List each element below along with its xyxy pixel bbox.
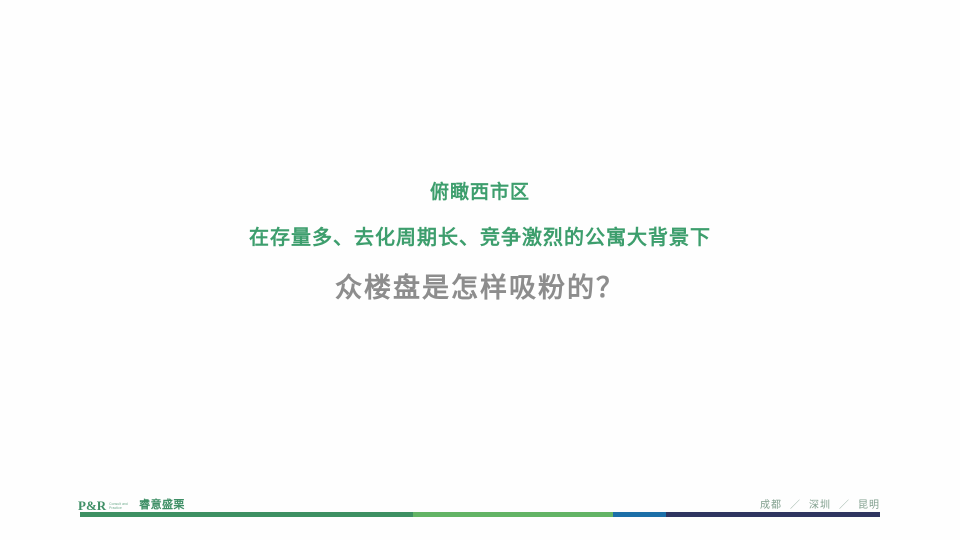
logo-mark-text: P&R [78, 499, 106, 512]
brand-logo: P&R Consult and Practice 睿意盛栗 [78, 497, 185, 513]
footer-city-shenzhen: 深圳 [809, 496, 831, 511]
headline-line-1: 俯瞰西市区 [0, 178, 960, 208]
rule-segment-navy [666, 512, 880, 517]
rule-segment-dark-green [80, 512, 413, 517]
footer-city-chengdu: 成都 [760, 496, 782, 511]
logo-chinese-name: 睿意盛栗 [139, 499, 185, 511]
footer-city-kunming: 昆明 [858, 496, 880, 511]
slide-canvas: 俯瞰西市区 在存量多、去化周期长、竞争激烈的公寓大背景下 众楼盘是怎样吸粉的？ … [0, 0, 960, 540]
headline-question: 众楼盘是怎样吸粉的？ [0, 268, 960, 308]
headline-block: 俯瞰西市区 在存量多、去化周期长、竞争激烈的公寓大背景下 众楼盘是怎样吸粉的？ [0, 178, 960, 308]
rule-segment-blue [613, 512, 666, 517]
headline-line-2: 在存量多、去化周期长、竞争激烈的公寓大背景下 [0, 222, 960, 254]
slide-footer: P&R Consult and Practice 睿意盛栗 成都 ／ 深圳 ／ … [0, 490, 960, 540]
logo-subtitle-text: Consult and Practice [109, 502, 135, 510]
footer-city-separator-1: ／ [790, 496, 801, 511]
rule-segment-light-green [413, 512, 613, 517]
footer-city-list: 成都 ／ 深圳 ／ 昆明 [760, 496, 880, 511]
footer-city-separator-2: ／ [839, 496, 850, 511]
footer-color-rule [80, 512, 880, 517]
